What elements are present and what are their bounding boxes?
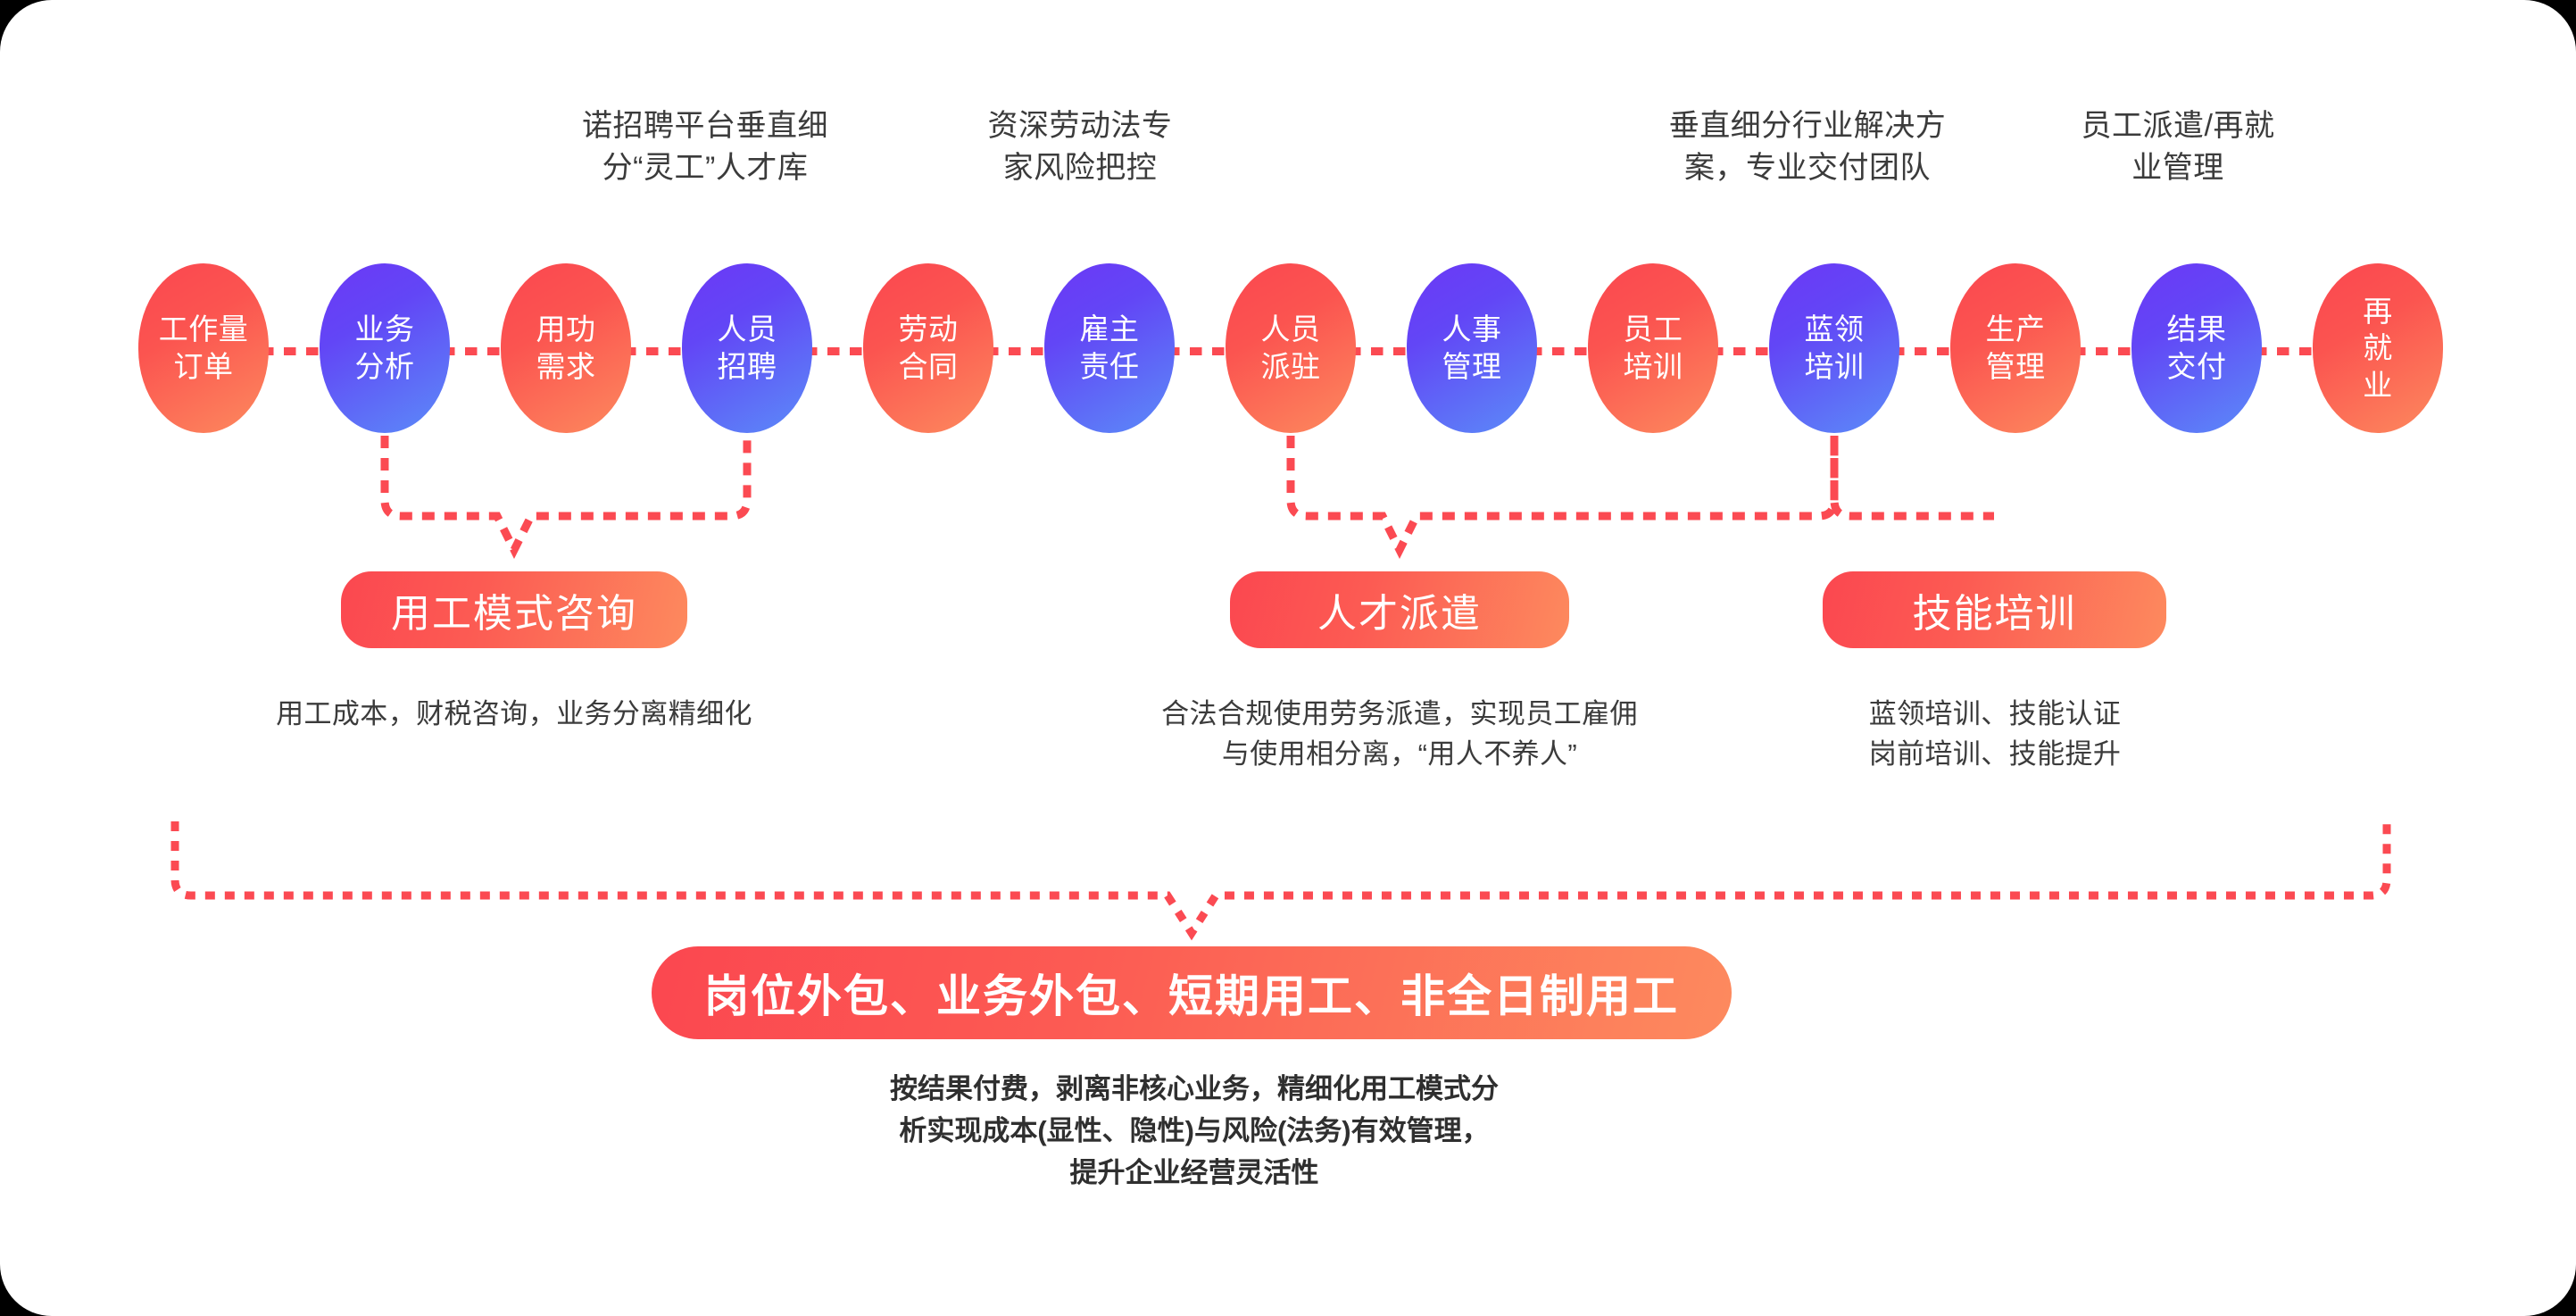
process-pill-1[interactable]: 工作量 订单 [138,263,269,433]
process-pill-3[interactable]: 用功 需求 [501,263,631,433]
pill-connector-1 [262,347,327,355]
pill-connector-9 [1711,347,1776,355]
annotation-labor-law: 资深劳动法专 家风险把控 [946,105,1214,189]
pill-connector-5 [986,347,1051,355]
pill-connector-10 [1892,347,1957,355]
bracket-global [175,821,2387,933]
bracket-group-3 [1834,436,1994,516]
annotation-vertical-solution: 垂直细分行业解决方 案，专业交付团队 [1633,105,1982,189]
bottom-summary-description: 按结果付费，剥离非核心业务，精细化用工模式分 析实现成本(显性、隐性)与风险(法… [663,1068,1725,1194]
group-description-1: 用工成本，财税咨询，业务分离精细化 [211,695,818,735]
pill-connector-8 [1530,347,1595,355]
process-pill-4[interactable]: 人员 招聘 [682,263,812,433]
process-pill-9[interactable]: 员工 培训 [1588,263,1718,433]
pill-connector-7 [1349,347,1414,355]
process-pill-8[interactable]: 人事 管理 [1407,263,1537,433]
bracket-group-1 [385,436,747,550]
process-pill-5[interactable]: 劳动 合同 [863,263,993,433]
pill-connector-12 [2255,347,2320,355]
pill-connector-4 [805,347,870,355]
process-pill-2[interactable]: 业务 分析 [320,263,450,433]
pill-connector-6 [1168,347,1233,355]
process-pill-11[interactable]: 生产 管理 [1950,263,2081,433]
group-description-3: 蓝领培训、技能认证 岗前培训、技能提升 [1821,695,2169,774]
group-description-2: 合法合规使用劳务派遣，实现员工雇佣 与使用相分离，“用人不养人” [1087,695,1712,774]
pill-connector-11 [2073,347,2139,355]
annotation-dispatch-manage: 员工派遣/再就 业管理 [2044,105,2312,189]
diagram-canvas: 诺招聘平台垂直细 分“灵工”人才库 资深劳动法专 家风险把控 垂直细分行业解决方… [0,0,2576,1316]
process-pill-6[interactable]: 雇主 责任 [1044,263,1175,433]
process-pill-row: 工作量 订单业务 分析用功 需求人员 招聘劳动 合同雇主 责任人员 派驻人事 管… [0,263,2576,433]
process-pill-13[interactable]: 再 就 业 [2313,263,2443,433]
process-pill-7[interactable]: 人员 派驻 [1226,263,1356,433]
bottom-summary-banner[interactable]: 岗位外包、业务外包、短期用工、非全日制用工 [652,946,1732,1039]
group-banner-2[interactable]: 人才派遣 [1230,571,1569,648]
pill-connector-3 [624,347,689,355]
process-pill-10[interactable]: 蓝领 培训 [1769,263,1899,433]
annotation-recruit-platform: 诺招聘平台垂直细 分“灵工”人才库 [553,105,857,189]
bracket-group-2 [1291,436,1834,550]
group-banner-3[interactable]: 技能培训 [1823,571,2166,648]
group-banner-1[interactable]: 用工模式咨询 [341,571,687,648]
process-pill-12[interactable]: 结果 交付 [2131,263,2262,433]
pill-connector-2 [443,347,508,355]
